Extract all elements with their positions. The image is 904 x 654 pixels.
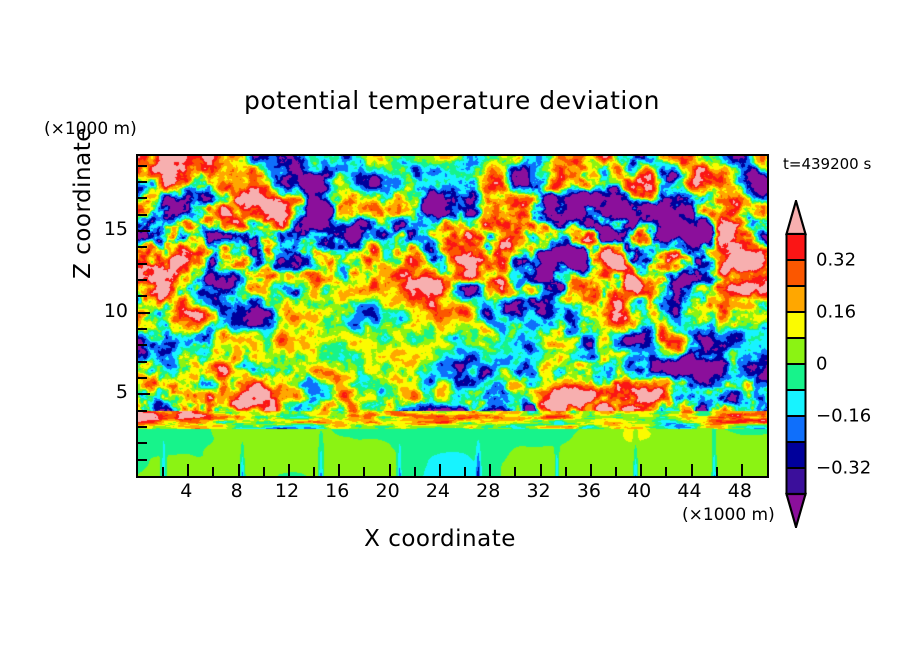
colorbar-tick-label: 0 bbox=[816, 354, 827, 375]
x-tick-mark bbox=[464, 467, 466, 476]
x-tick-mark bbox=[162, 467, 164, 476]
x-tick-mark bbox=[716, 467, 718, 476]
z-tick-mark bbox=[138, 410, 147, 412]
colorbar-tick-label: 0.32 bbox=[816, 250, 856, 271]
x-tick-mark bbox=[741, 464, 743, 476]
x-axis-title: X coordinate bbox=[0, 526, 880, 552]
x-axis-unit-label: (×1000 m) bbox=[682, 505, 775, 525]
x-tick-label: 32 bbox=[526, 480, 550, 502]
colorbar-tick-label: 0.16 bbox=[816, 302, 856, 323]
x-tick-label: 36 bbox=[577, 480, 601, 502]
x-tick-mark bbox=[489, 464, 491, 476]
x-tick-mark bbox=[615, 467, 617, 476]
x-tick-label: 8 bbox=[231, 480, 243, 502]
z-tick-label: 15 bbox=[96, 218, 128, 240]
x-tick-mark bbox=[691, 464, 693, 476]
x-tick-mark bbox=[263, 467, 265, 476]
x-tick-mark bbox=[212, 467, 214, 476]
z-tick-mark bbox=[138, 361, 147, 363]
x-tick-label: 4 bbox=[180, 480, 192, 502]
x-tick-mark bbox=[238, 464, 240, 476]
time-annotation: t=439200 s bbox=[783, 155, 871, 173]
z-tick-mark bbox=[138, 246, 147, 248]
temperature-deviation-field bbox=[138, 156, 767, 476]
z-tick-mark bbox=[138, 344, 147, 346]
colorbar-tick-label: −0.16 bbox=[816, 406, 871, 427]
contour-plot-area bbox=[136, 154, 769, 478]
z-tick-mark bbox=[138, 279, 147, 281]
z-tick-mark bbox=[138, 328, 147, 330]
z-tick-mark bbox=[138, 393, 150, 395]
z-tick-mark bbox=[138, 181, 147, 183]
z-tick-mark bbox=[138, 295, 147, 297]
colorbar-gradient bbox=[785, 200, 807, 528]
z-tick-mark bbox=[138, 442, 147, 444]
z-tick-mark bbox=[138, 377, 147, 379]
x-tick-label: 12 bbox=[275, 480, 299, 502]
z-tick-mark bbox=[138, 426, 147, 428]
z-tick-mark bbox=[138, 165, 147, 167]
z-tick-mark bbox=[138, 214, 147, 216]
page-title: potential temperature deviation bbox=[0, 86, 904, 115]
z-tick-mark bbox=[138, 197, 147, 199]
x-tick-mark bbox=[414, 467, 416, 476]
x-tick-label: 16 bbox=[325, 480, 349, 502]
x-tick-mark bbox=[540, 464, 542, 476]
x-tick-mark bbox=[590, 464, 592, 476]
z-axis-title: Z coordinate bbox=[70, 78, 96, 328]
x-tick-mark bbox=[389, 464, 391, 476]
x-tick-label: 24 bbox=[426, 480, 450, 502]
x-tick-label: 40 bbox=[627, 480, 651, 502]
x-tick-label: 44 bbox=[677, 480, 701, 502]
x-tick-mark bbox=[363, 467, 365, 476]
x-tick-mark bbox=[288, 464, 290, 476]
x-tick-label: 48 bbox=[728, 480, 752, 502]
x-tick-mark bbox=[665, 467, 667, 476]
x-tick-mark bbox=[187, 464, 189, 476]
x-tick-mark bbox=[338, 464, 340, 476]
x-tick-mark bbox=[313, 467, 315, 476]
z-tick-mark bbox=[138, 459, 147, 461]
z-tick-label: 5 bbox=[96, 381, 128, 403]
x-tick-mark bbox=[514, 467, 516, 476]
colorbar bbox=[785, 200, 807, 528]
z-tick-mark bbox=[138, 230, 150, 232]
x-tick-label: 20 bbox=[376, 480, 400, 502]
x-tick-mark bbox=[565, 467, 567, 476]
x-tick-label: 28 bbox=[476, 480, 500, 502]
x-tick-mark bbox=[640, 464, 642, 476]
colorbar-tick-label: −0.32 bbox=[816, 458, 871, 479]
z-tick-label: 10 bbox=[96, 300, 128, 322]
z-tick-mark bbox=[138, 263, 147, 265]
x-tick-mark bbox=[439, 464, 441, 476]
z-tick-mark bbox=[138, 312, 150, 314]
